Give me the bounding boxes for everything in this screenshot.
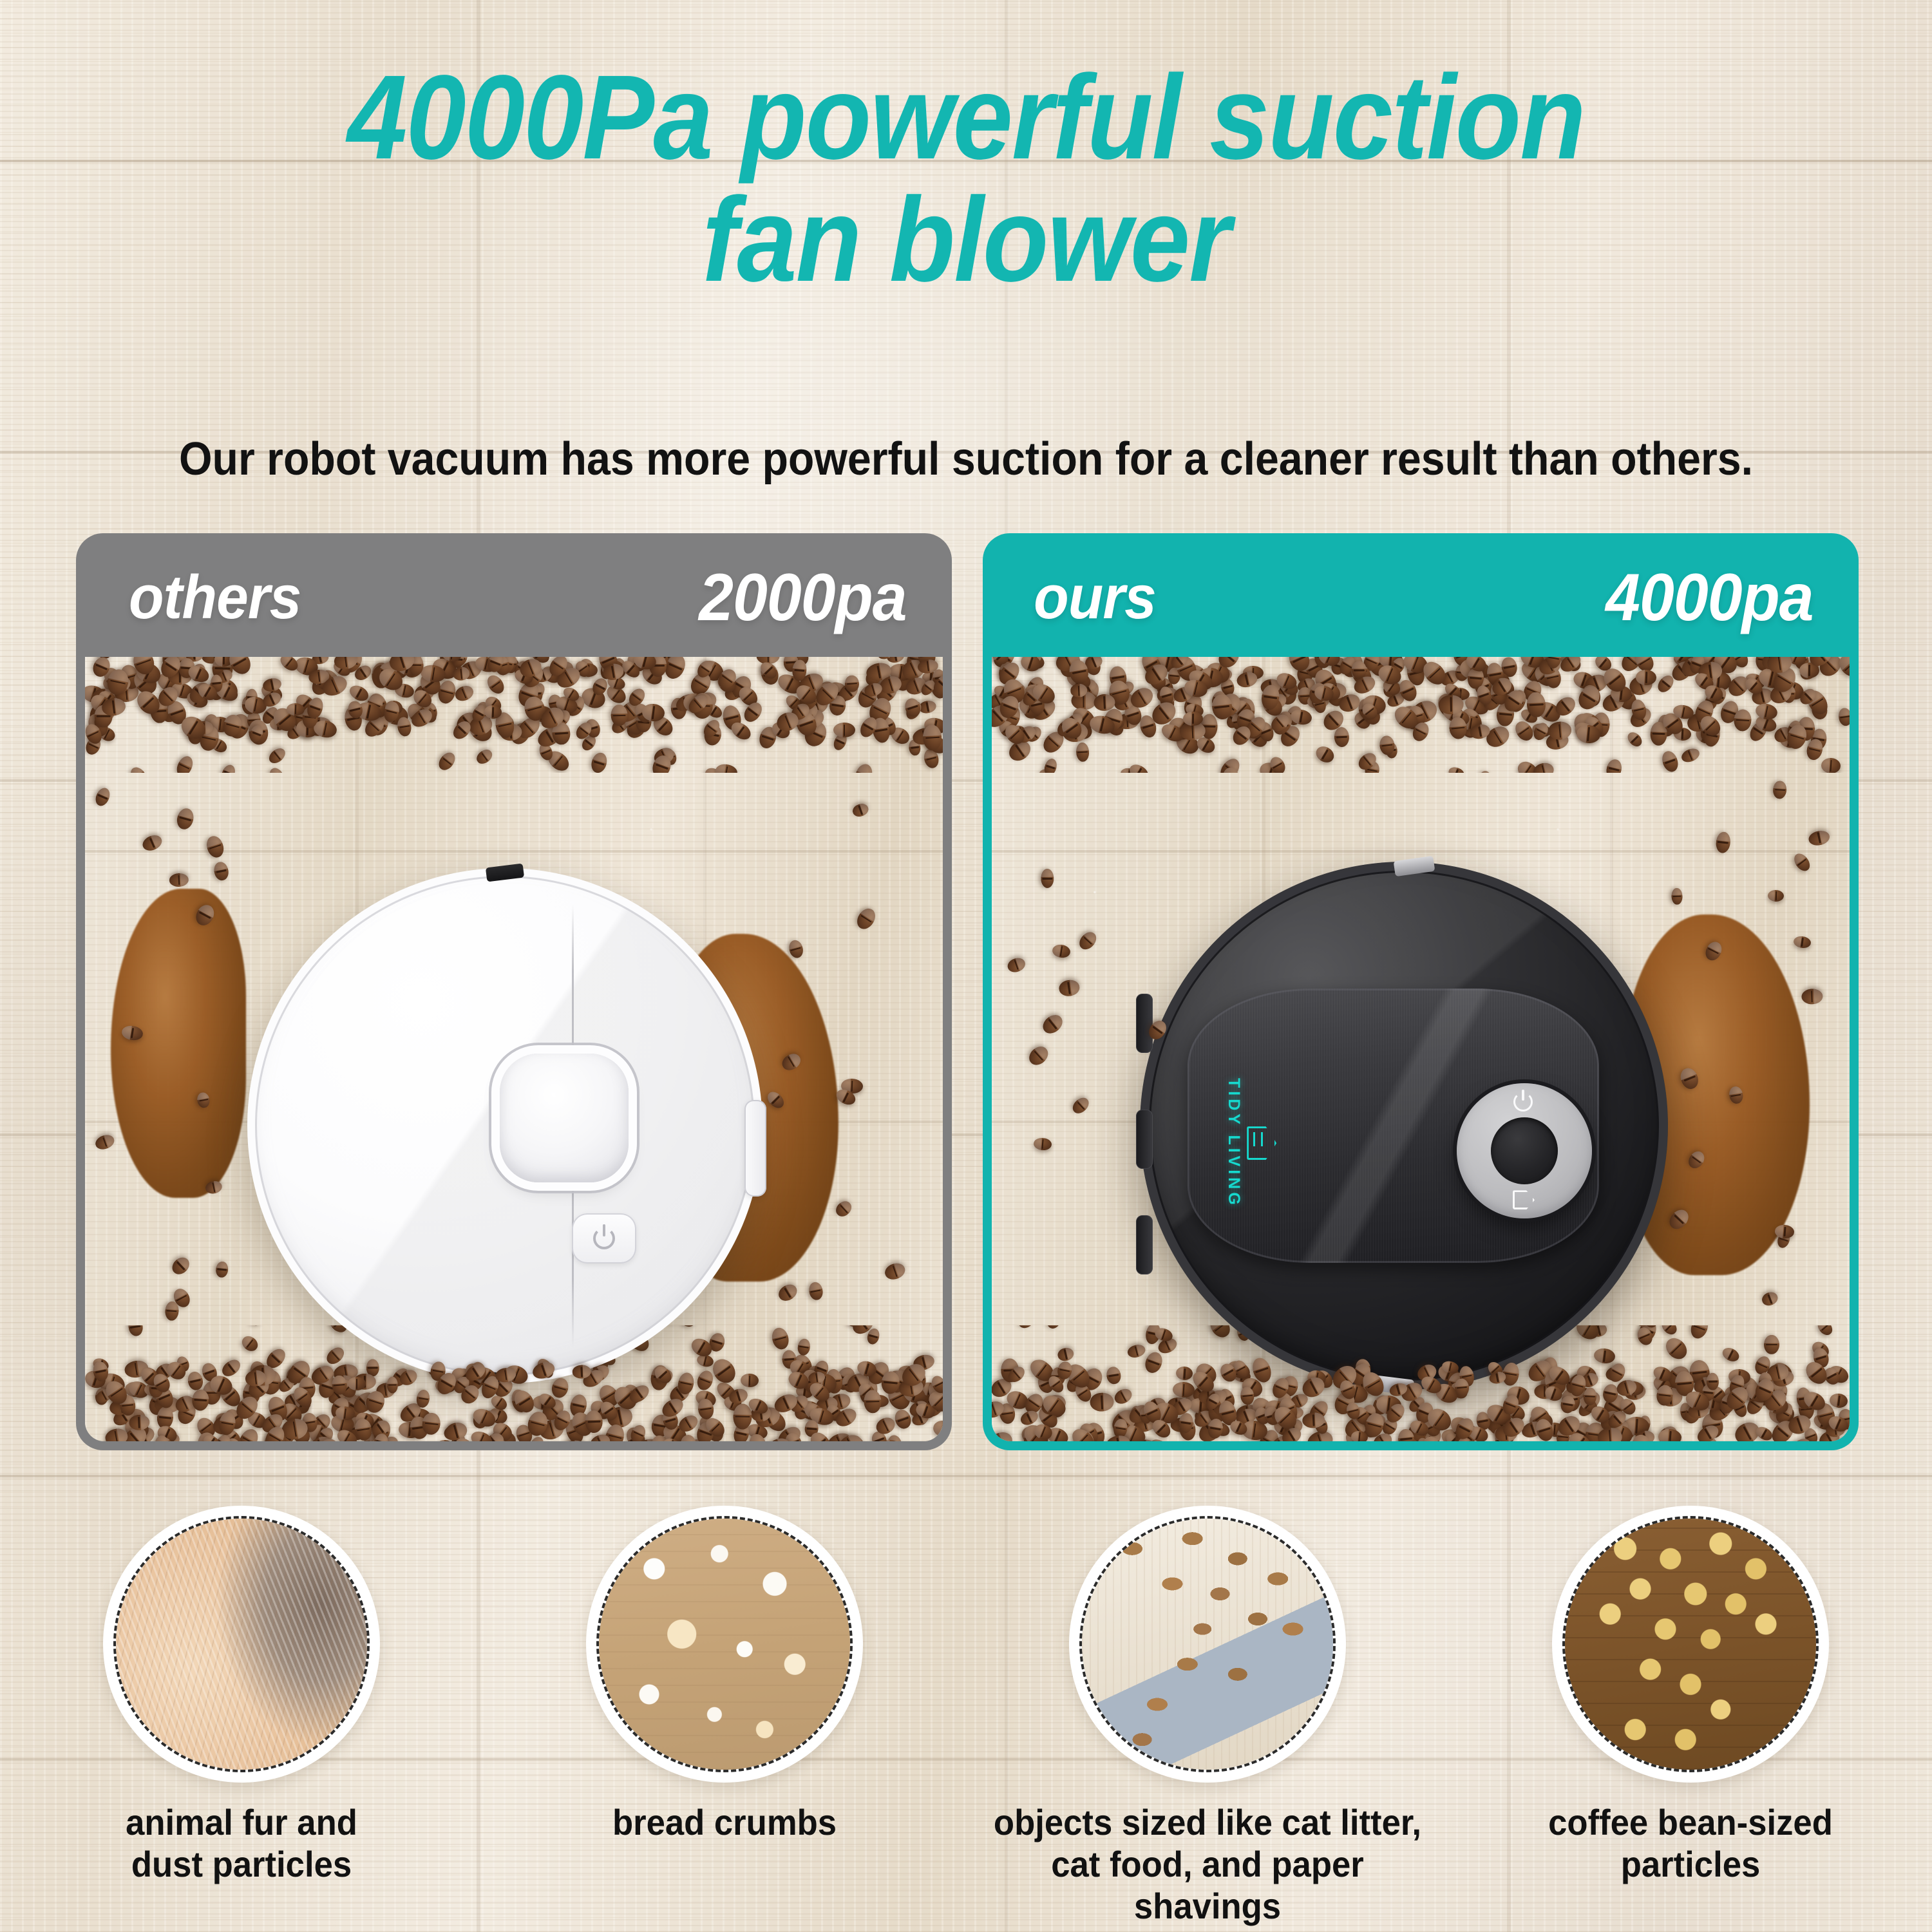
others-suction-value: 2000pa bbox=[699, 560, 906, 636]
coffee-bean bbox=[348, 1377, 366, 1390]
coffee-bean bbox=[186, 1370, 204, 1392]
coffee-bean bbox=[1636, 669, 1657, 685]
coffee-bean bbox=[453, 684, 476, 705]
others-coffee-bean-band-top bbox=[85, 657, 943, 773]
coffee-bean bbox=[1688, 1325, 1711, 1341]
coffee-bean bbox=[1733, 708, 1752, 731]
coffee-bean bbox=[741, 1373, 759, 1387]
coffee-bean bbox=[1090, 1392, 1115, 1412]
coffee-bean bbox=[324, 1344, 347, 1367]
brand-logo: TIDY LIVING bbox=[1224, 1078, 1276, 1208]
coffee-bean bbox=[1019, 657, 1043, 674]
coffee-bean bbox=[1189, 1325, 1210, 1327]
thumbnail-frame bbox=[1552, 1506, 1829, 1783]
coffee-bean bbox=[1126, 1342, 1147, 1359]
coffee-bean bbox=[1043, 757, 1059, 773]
coffee-bean bbox=[1014, 1325, 1040, 1332]
coffee-bean bbox=[674, 1325, 700, 1331]
coffee-bean bbox=[770, 1326, 791, 1351]
coffee-bean bbox=[1583, 1387, 1597, 1405]
black-vacuum-side-tab-2 bbox=[1136, 1110, 1153, 1169]
debris-item-coffee-bean-sized: coffee bean-sized particles bbox=[1449, 1501, 1932, 1886]
coffee-bean bbox=[386, 1377, 398, 1394]
debris-item-animal-fur: animal fur and dust particles bbox=[0, 1501, 483, 1886]
white-vacuum-side-bumper bbox=[744, 1100, 766, 1197]
coffee-bean bbox=[1662, 1334, 1690, 1363]
coffee-bean bbox=[1313, 744, 1336, 766]
coffee-bean bbox=[550, 1376, 571, 1400]
brand-name-text: TIDY LIVING bbox=[1224, 1078, 1243, 1208]
soybeans-photo bbox=[1565, 1519, 1816, 1770]
coffee-bean bbox=[1075, 742, 1090, 762]
black-vacuum-side-tab-1 bbox=[1136, 994, 1153, 1053]
coffee-bean bbox=[833, 723, 855, 737]
coffee-bean bbox=[1659, 1325, 1680, 1338]
coffee-bean bbox=[1040, 869, 1054, 889]
ours-panel-header: ours 4000pa bbox=[983, 533, 1859, 662]
coffee-bean bbox=[239, 1333, 261, 1354]
coffee-bean bbox=[1447, 765, 1466, 773]
coffee-bean bbox=[585, 1410, 603, 1434]
thumbnail-dashed-border bbox=[113, 1516, 370, 1772]
coffee-bean bbox=[864, 1390, 882, 1414]
power-icon[interactable] bbox=[1513, 1092, 1535, 1114]
coffee-bean bbox=[421, 1412, 441, 1435]
coffee-bean bbox=[1604, 757, 1623, 773]
coffee-bean bbox=[266, 745, 288, 766]
coffee-bean bbox=[1573, 1325, 1602, 1343]
debris-label: objects sized like cat litter, cat food,… bbox=[981, 1802, 1435, 1927]
animal-fur-photo bbox=[116, 1519, 367, 1770]
coffee-bean bbox=[1837, 707, 1850, 726]
coffee-bean bbox=[1532, 761, 1556, 773]
page-subtitle: Our robot vacuum has more powerful sucti… bbox=[77, 433, 1855, 486]
coffee-bean bbox=[1658, 1428, 1682, 1441]
others-photo-area bbox=[85, 657, 943, 1441]
coffee-bean bbox=[1477, 769, 1495, 773]
ours-panel-frame: ours 4000pa TIDY LIVING bbox=[983, 533, 1859, 1450]
robot-vacuum-black: TIDY LIVING bbox=[1140, 862, 1668, 1390]
white-vacuum-power-button[interactable] bbox=[572, 1213, 636, 1264]
others-coffee-spill-left bbox=[111, 889, 246, 1198]
brand-house-arrow-icon bbox=[1247, 1126, 1276, 1160]
power-icon bbox=[593, 1227, 615, 1249]
ours-photo-area: TIDY LIVING bbox=[992, 657, 1850, 1441]
coffee-bean bbox=[1334, 727, 1349, 748]
coffee-bean bbox=[1127, 762, 1151, 773]
coffee-bean bbox=[128, 764, 151, 773]
coffee-bean bbox=[852, 762, 875, 773]
coffee-bean bbox=[933, 1419, 943, 1438]
coffee-bean bbox=[1183, 712, 1203, 726]
debris-thumbnail-row: animal fur and dust particles bread crum… bbox=[0, 1501, 1932, 1926]
coffee-bean bbox=[1142, 1350, 1165, 1375]
robot-vacuum-white bbox=[247, 868, 762, 1383]
coffee-bean bbox=[1660, 749, 1681, 773]
others-label: others bbox=[129, 562, 301, 633]
coffee-bean bbox=[1593, 1347, 1616, 1365]
others-panel-header: others 2000pa bbox=[76, 533, 952, 662]
debris-label: coffee bean-sized particles bbox=[1464, 1802, 1918, 1886]
coffee-bean bbox=[1106, 1366, 1122, 1385]
coffee-bean bbox=[245, 1325, 267, 1327]
coffee-bean bbox=[886, 657, 905, 664]
home-icon[interactable] bbox=[1513, 1190, 1536, 1211]
coffee-bean bbox=[220, 763, 238, 773]
coffee-bean bbox=[1720, 1345, 1741, 1364]
thumbnail-dashed-border bbox=[596, 1516, 853, 1772]
coffee-bean bbox=[436, 750, 459, 773]
coffee-bean bbox=[1680, 746, 1702, 764]
control-center-button[interactable] bbox=[1491, 1117, 1558, 1184]
lidar-turret bbox=[500, 1054, 629, 1182]
coffee-bean bbox=[694, 1368, 715, 1393]
ours-label: ours bbox=[1034, 562, 1156, 633]
coffee-bean bbox=[992, 1428, 1015, 1441]
coffee-bean bbox=[1625, 730, 1644, 749]
debris-item-cat-food: objects sized like cat litter, cat food,… bbox=[966, 1501, 1449, 1927]
debris-label: animal fur and dust particles bbox=[15, 1802, 469, 1886]
debris-label: bread crumbs bbox=[498, 1802, 952, 1844]
coffee-bean bbox=[1206, 1325, 1234, 1341]
ours-suction-value: 4000pa bbox=[1605, 560, 1813, 636]
ours-coffee-bean-band-top bbox=[992, 657, 1850, 773]
coffee-bean bbox=[714, 762, 738, 773]
black-vacuum-control-panel[interactable] bbox=[1457, 1083, 1592, 1218]
coffee-bean bbox=[1821, 757, 1842, 773]
coffee-bean bbox=[267, 766, 287, 773]
coffee-bean bbox=[796, 1338, 811, 1357]
coffee-bean bbox=[174, 753, 196, 773]
coffee-bean bbox=[127, 1325, 144, 1337]
debris-item-bread-crumbs: bread crumbs bbox=[483, 1501, 966, 1844]
coffee-bean bbox=[1112, 1387, 1134, 1407]
coffee-bean bbox=[1044, 1325, 1064, 1331]
black-vacuum-side-tab-3 bbox=[1136, 1215, 1153, 1274]
page-headline: 4000Pa powerful suction fan blower bbox=[97, 57, 1835, 301]
bread-crumbs-photo bbox=[599, 1519, 850, 1770]
coffee-bean bbox=[1439, 694, 1464, 714]
coffee-bean bbox=[397, 716, 413, 737]
coffee-bean bbox=[1829, 1392, 1849, 1408]
cat-food-photo bbox=[1082, 1519, 1333, 1770]
others-panel-frame: others 2000pa bbox=[76, 533, 952, 1450]
thumbnail-frame bbox=[103, 1506, 380, 1783]
coffee-bean bbox=[1056, 1346, 1075, 1362]
coffee-bean bbox=[1175, 1366, 1193, 1381]
coffee-bean bbox=[474, 747, 495, 767]
thumbnail-dashed-border bbox=[1079, 1516, 1336, 1772]
thumbnail-frame bbox=[1069, 1506, 1346, 1783]
coffee-bean bbox=[1764, 1335, 1779, 1354]
thumbnail-dashed-border bbox=[1562, 1516, 1819, 1772]
comparison-panel-ours: ours 4000pa TIDY LIVING bbox=[983, 533, 1859, 1450]
coffee-bean bbox=[1707, 1373, 1719, 1391]
coffee-bean bbox=[484, 672, 507, 697]
thumbnail-frame bbox=[586, 1506, 863, 1783]
coffee-bean bbox=[589, 751, 609, 773]
coffee-bean bbox=[1815, 1325, 1835, 1338]
comparison-panel-others: others 2000pa bbox=[76, 533, 952, 1450]
